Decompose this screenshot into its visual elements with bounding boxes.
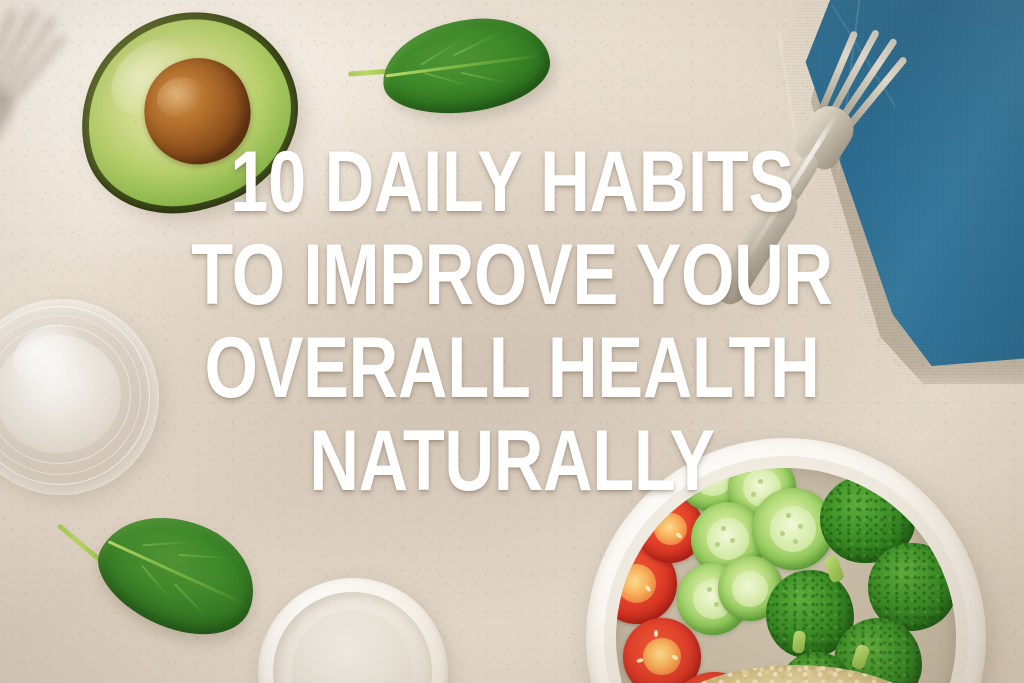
headline-line-3: OVERALL HEALTH — [102, 322, 921, 415]
headline-line-4: NATURALLY — [102, 415, 921, 508]
headline-line-2: TO IMPROVE YOUR — [102, 229, 921, 322]
headline-title: 10 DAILY HABITS TO IMPROVE YOUR OVERALL … — [102, 136, 921, 508]
headline-line-1: 10 DAILY HABITS — [102, 136, 921, 229]
banner-canvas: 10 DAILY HABITS TO IMPROVE YOUR OVERALL … — [0, 0, 1024, 683]
